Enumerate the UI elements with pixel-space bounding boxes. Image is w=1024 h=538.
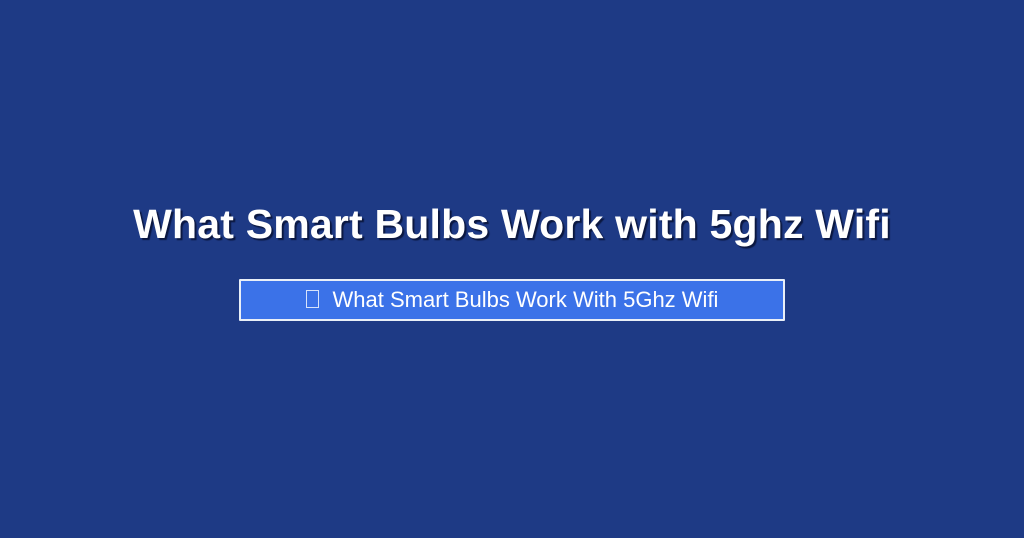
page-title: What Smart Bulbs Work with 5ghz Wifi bbox=[0, 199, 1024, 249]
missing-glyph-box-icon bbox=[306, 290, 319, 308]
hero-section: What Smart Bulbs Work with 5ghz Wifi Wha… bbox=[0, 0, 1024, 538]
cta-button-label: What Smart Bulbs Work With 5Ghz Wifi bbox=[333, 289, 719, 311]
page-root: What Smart Bulbs Work with 5ghz Wifi Wha… bbox=[0, 0, 1024, 538]
cta-link-button[interactable]: What Smart Bulbs Work With 5Ghz Wifi bbox=[239, 279, 785, 321]
cta-container: What Smart Bulbs Work With 5Ghz Wifi bbox=[0, 279, 1024, 321]
